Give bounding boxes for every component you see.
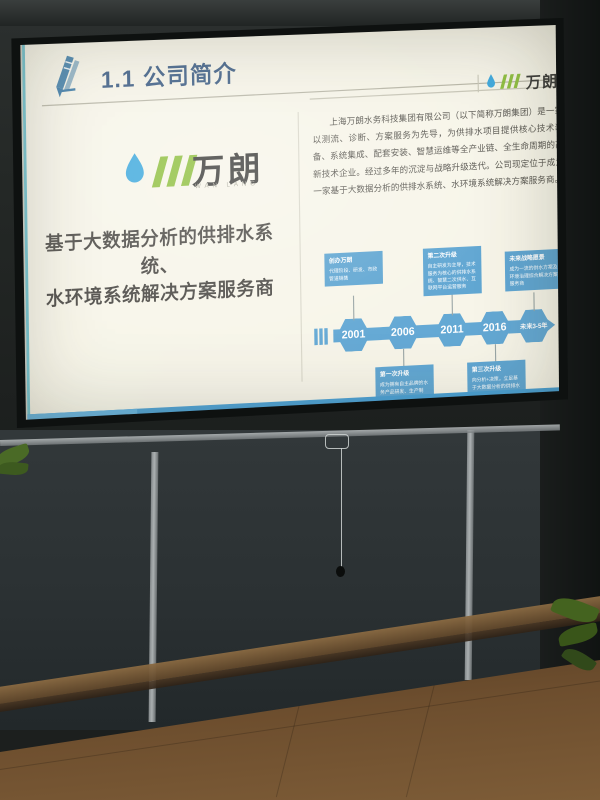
timeline-node-2011: 2011	[435, 313, 469, 348]
callout-stem-3	[533, 292, 534, 311]
company-intro-paragraph: 上海万朗水务科技集团有限公司（以下简称万朗集团）是一家以测流、诊断、方案服务为先…	[312, 102, 564, 200]
right-rule-tick	[478, 75, 479, 93]
timeline-start-ticks	[314, 328, 333, 345]
callout-body: 自主研发为主导，技术服务为核心的供排水系统、智慧二次供水、互联网平台运营服务	[428, 260, 478, 292]
callout-stem-2	[452, 293, 453, 315]
pencil-icon	[48, 53, 90, 101]
screen-pull-cord[interactable]	[341, 448, 342, 568]
callout-stem-4	[403, 349, 404, 367]
callout-stem-1	[353, 296, 354, 321]
callout-stem-5	[495, 344, 496, 362]
screen-surface: 1.1 公司简介 万朗 WAN LANG 基于大数据分析的供排水系统、	[8, 18, 568, 428]
timeline-node-2006: 2006	[386, 315, 420, 350]
callout-title: 第三次升级	[472, 364, 521, 374]
callout-title: 第二次升级	[427, 250, 476, 260]
timeline-node-2016: 2016	[478, 311, 512, 346]
callout-title: 第一次升级	[380, 369, 429, 379]
callout-future-vision: 未来战略愿景 成为一流的供水方案及环境治理综合解决方案服务商	[505, 249, 564, 292]
presentation-slide: 1.1 公司简介 万朗 WAN LANG 基于大数据分析的供排水系统、	[22, 18, 568, 428]
callout-title: 创办万朗	[329, 255, 378, 265]
screen-pull-weight[interactable]	[336, 566, 345, 577]
timeline-node-2001: 2001	[336, 318, 370, 353]
callout-title: 未来战略愿景	[509, 253, 558, 263]
callout-body: 代理阶段、研发、市政管道销售	[329, 265, 378, 282]
brand-name-cn-small: 万朗	[526, 68, 559, 93]
room-scene: 1.1 公司简介 万朗 WAN LANG 基于大数据分析的供排水系统、	[0, 0, 600, 800]
callout-upgrade-2: 第二次升级 自主研发为主导，技术服务为核心的供排水系统、智慧二次供水、互联网平台…	[423, 246, 482, 296]
column-divider	[298, 112, 303, 382]
slide-lead-statement: 基于大数据分析的供排水系统、 水环境系统解决方案服务商	[42, 219, 278, 313]
callout-founding: 创办万朗 代理阶段、研发、市政管道销售	[324, 251, 383, 287]
slide-title: 1.1 公司简介	[101, 54, 237, 95]
projector-screen: 1.1 公司简介 万朗 WAN LANG 基于大数据分析的供排水系统、	[0, 0, 600, 460]
callout-body: 成为一流的供水方案及环境治理综合解决方案服务商	[509, 263, 559, 287]
